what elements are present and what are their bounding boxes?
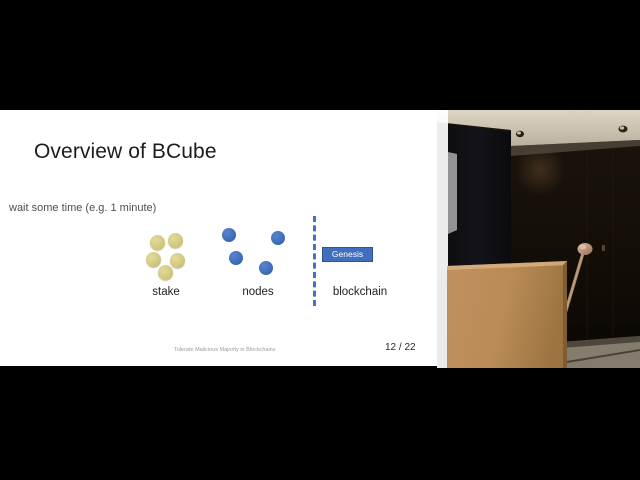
genesis-block-label: Genesis [332,250,363,259]
slide-page-number: 12 / 22 [385,342,416,353]
microphone-head-icon [578,243,593,255]
stake-coin [158,265,173,280]
lectern-side-edge [563,261,567,368]
genesis-block: Genesis [322,247,373,262]
network-node [271,231,285,245]
stake-coin [150,235,165,250]
stake-caption: stake [152,286,180,298]
network-node [259,261,273,275]
nodes-caption: nodes [242,286,273,298]
speaker-webcam-panel [437,110,640,368]
blockchain-caption: blockchain [333,286,387,298]
network-node [229,251,243,265]
stake-coin [146,252,161,267]
microphone-head-highlight [580,245,587,250]
slide-footer-text: Tolerate Malicious Majority in Blockchai… [174,347,275,353]
light-strip [437,110,448,368]
blockchain-divider-line [313,216,316,306]
ceiling-light-icon [620,126,624,129]
wall-switch-icon [602,245,605,251]
bcube-overview-diagram: Genesis stake nodes blockchain [0,110,437,366]
lectern-panel [447,261,567,368]
network-node [222,228,236,242]
presentation-slide: Overview of BCube wait some time (e.g. 1… [0,110,437,366]
stake-coin [168,233,183,248]
ceiling-light-icon [517,132,521,135]
auditorium-scene [437,110,640,368]
stake-coin [170,253,185,268]
video-player-frame: Overview of BCube wait some time (e.g. 1… [0,0,640,480]
lens-flare [514,144,566,196]
light-strip-glow [448,152,457,234]
